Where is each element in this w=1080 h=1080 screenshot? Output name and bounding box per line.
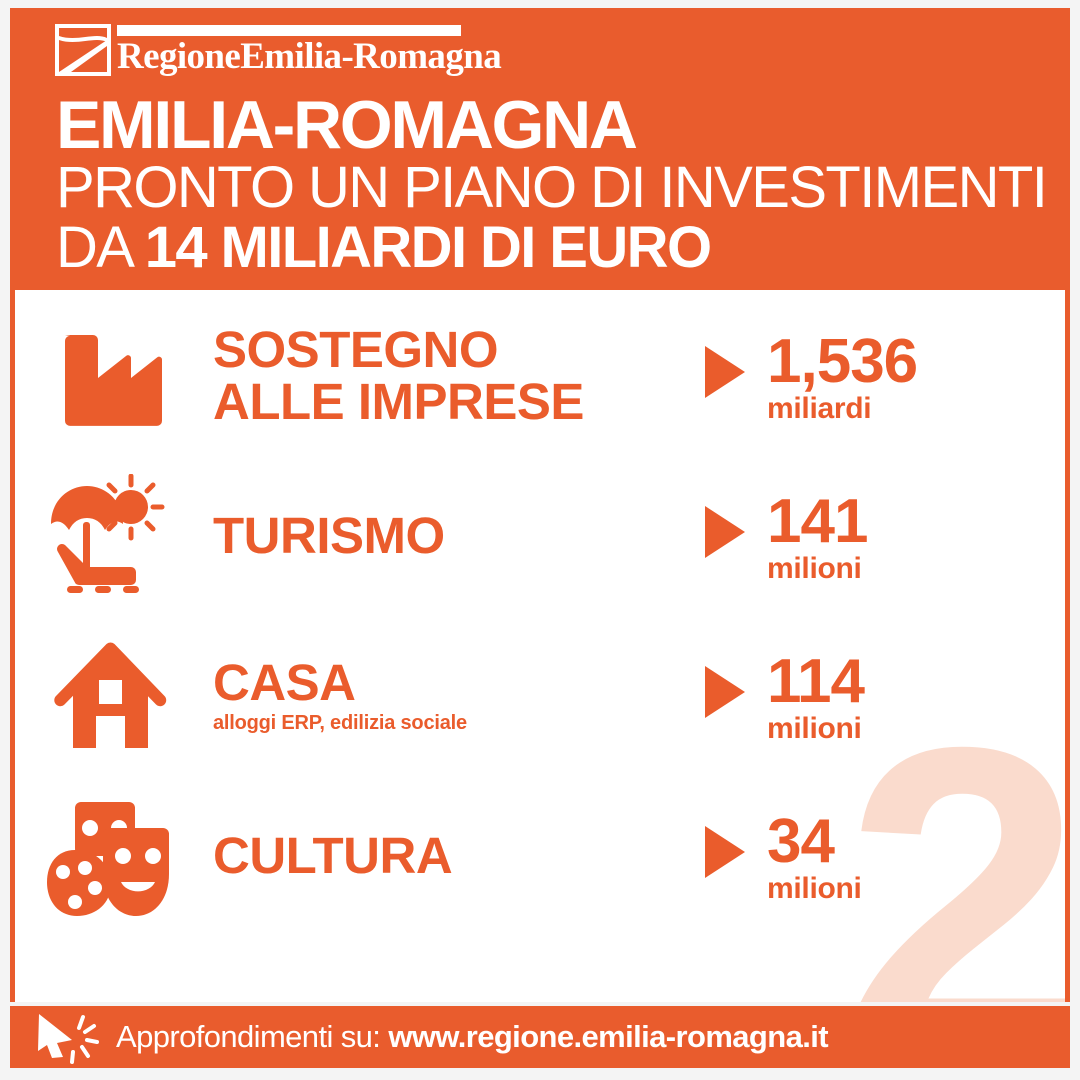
house-icon: [51, 638, 169, 754]
stat-value-group: 1,536 miliardi: [767, 332, 917, 426]
stat-icon-cell: [15, 317, 205, 435]
stat-row: CASA alloggi ERP, edilizia sociale 114 m…: [15, 616, 1065, 776]
headline-line-2: PRONTO UN PIANO DI INVESTIMENTI: [56, 158, 1056, 218]
stat-label-cell: CASA alloggi ERP, edilizia sociale: [205, 657, 683, 735]
play-triangle-icon: [705, 666, 745, 718]
stat-label-line-2: ALLE IMPRESE: [213, 376, 693, 428]
logo-rule: [117, 25, 461, 36]
stat-unit: milioni: [767, 712, 862, 746]
regione-emilia-romagna-wave-mark: [55, 24, 111, 76]
stat-icon-cell: [15, 474, 205, 598]
logo-text: RegioneEmilia-Romagna: [117, 37, 501, 77]
footer-prefix: Approfondimenti su:: [116, 1019, 388, 1054]
wave-shape-icon: [55, 24, 111, 76]
footer-url[interactable]: www.regione.emilia-romagna.it: [388, 1019, 828, 1054]
brand-logo: RegioneEmilia-Romagna: [55, 24, 501, 77]
click-cursor-glyph-icon: [36, 1010, 102, 1064]
stat-row: SOSTEGNO ALLE IMPRESE 1,536 miliardi: [15, 296, 1065, 456]
stat-label-cell: TURISMO: [205, 510, 691, 562]
stat-value-cell: 114 milioni: [683, 646, 1065, 746]
beach-umbrella-sun-icon: [45, 474, 175, 598]
theater-masks-palette-icon: [45, 794, 175, 918]
stat-value-group: 141 milioni: [767, 492, 867, 586]
header-banner: RegioneEmilia-Romagna EMILIA-ROMAGNA PRO…: [10, 8, 1070, 290]
stat-value: 1,536: [767, 332, 917, 392]
infographic-poster: RegioneEmilia-Romagna EMILIA-ROMAGNA PRO…: [0, 0, 1080, 1080]
headline-line-3: DA 14 MILIARDI DI EURO: [56, 218, 1056, 278]
footer-bar: Approfondimenti su: www.regione.emilia-r…: [10, 1006, 1070, 1068]
stat-subtitle: alloggi ERP, edilizia sociale: [213, 711, 683, 735]
stat-value-group: 34 milioni: [767, 812, 862, 906]
stat-value: 34: [767, 812, 834, 872]
stat-icon-cell: [15, 638, 205, 754]
factory-icon: [51, 317, 169, 435]
stat-label-line-1: CULTURA: [213, 830, 683, 882]
headline-line-3-prefix: DA: [56, 215, 145, 280]
play-triangle-icon: [705, 346, 745, 398]
headline-line-3-strong: 14 MILIARDI DI EURO: [145, 215, 711, 280]
stat-row: TURISMO 141 milioni: [15, 456, 1065, 616]
stat-row: CULTURA 34 milioni: [15, 776, 1065, 936]
play-triangle-icon: [705, 826, 745, 878]
headline-block: EMILIA-ROMAGNA PRONTO UN PIANO DI INVEST…: [56, 92, 1056, 278]
headline-line-1: EMILIA-ROMAGNA: [56, 92, 1056, 158]
stat-label-line-1: TURISMO: [213, 510, 691, 562]
stat-rows: SOSTEGNO ALLE IMPRESE 1,536 miliardi: [15, 290, 1065, 936]
stat-label-line-1: CASA: [213, 657, 683, 709]
stat-unit: milioni: [767, 872, 862, 906]
play-triangle-icon: [705, 506, 745, 558]
stat-label-cell: SOSTEGNO ALLE IMPRESE: [205, 324, 693, 428]
stat-value: 114: [767, 652, 864, 712]
stat-value-cell: 1,536 miliardi: [693, 326, 1065, 426]
stat-icon-cell: [15, 794, 205, 918]
stat-value: 141: [767, 492, 867, 552]
click-cursor-icon: [36, 1010, 102, 1064]
stat-unit: milioni: [767, 552, 862, 586]
stat-label-line-1: SOSTEGNO: [213, 324, 693, 376]
stat-value-cell: 141 milioni: [691, 486, 1065, 586]
stat-value-group: 114 milioni: [767, 652, 864, 746]
logo-wordmark-group: RegioneEmilia-Romagna: [117, 24, 501, 77]
footer-text: Approfondimenti su: www.regione.emilia-r…: [116, 1020, 828, 1054]
content-panel: 2 SOSTEGNO ALLE IMPRESE 1,536 mil: [10, 290, 1070, 1002]
stat-label-cell: CULTURA: [205, 830, 683, 882]
stat-value-cell: 34 milioni: [683, 806, 1065, 906]
stat-unit: miliardi: [767, 392, 871, 426]
